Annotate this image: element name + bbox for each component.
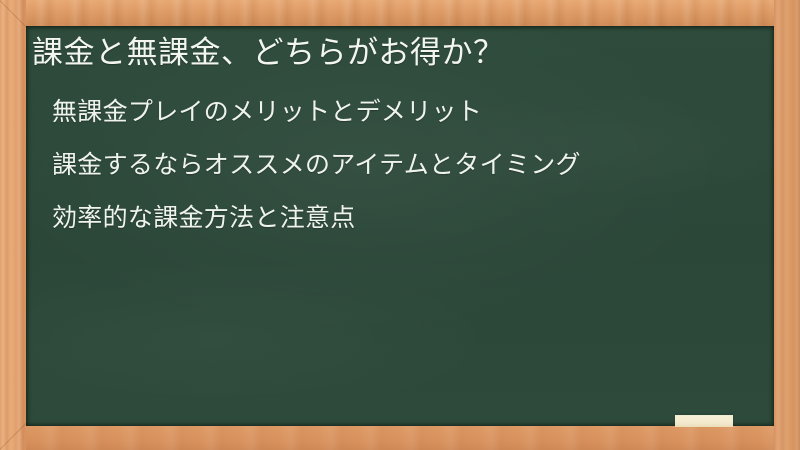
chalkboard-eraser	[675, 415, 733, 427]
slide-bullet-item: 課金するならオススメのアイテムとタイミング	[52, 153, 581, 178]
slide-title: 課金と無課金、どちらがお得か？	[32, 34, 505, 73]
frame-rail-top	[0, 0, 800, 26]
slide-bullet-item: 効率的な課金方法と注意点	[52, 206, 581, 231]
chalkboard-surface: 課金と無課金、どちらがお得か？ 無課金プレイのメリットとデメリット 課金するなら…	[26, 26, 774, 426]
slide-bullet-item: 無課金プレイのメリットとデメリット	[52, 100, 581, 125]
frame-rail-bottom	[0, 426, 800, 450]
frame-rail-left	[0, 0, 26, 450]
frame-rail-right	[774, 0, 800, 450]
slide-bullet-list: 無課金プレイのメリットとデメリット 課金するならオススメのアイテムとタイミング …	[52, 100, 581, 231]
chalkboard-slide: 課金と無課金、どちらがお得か？ 無課金プレイのメリットとデメリット 課金するなら…	[0, 0, 800, 450]
